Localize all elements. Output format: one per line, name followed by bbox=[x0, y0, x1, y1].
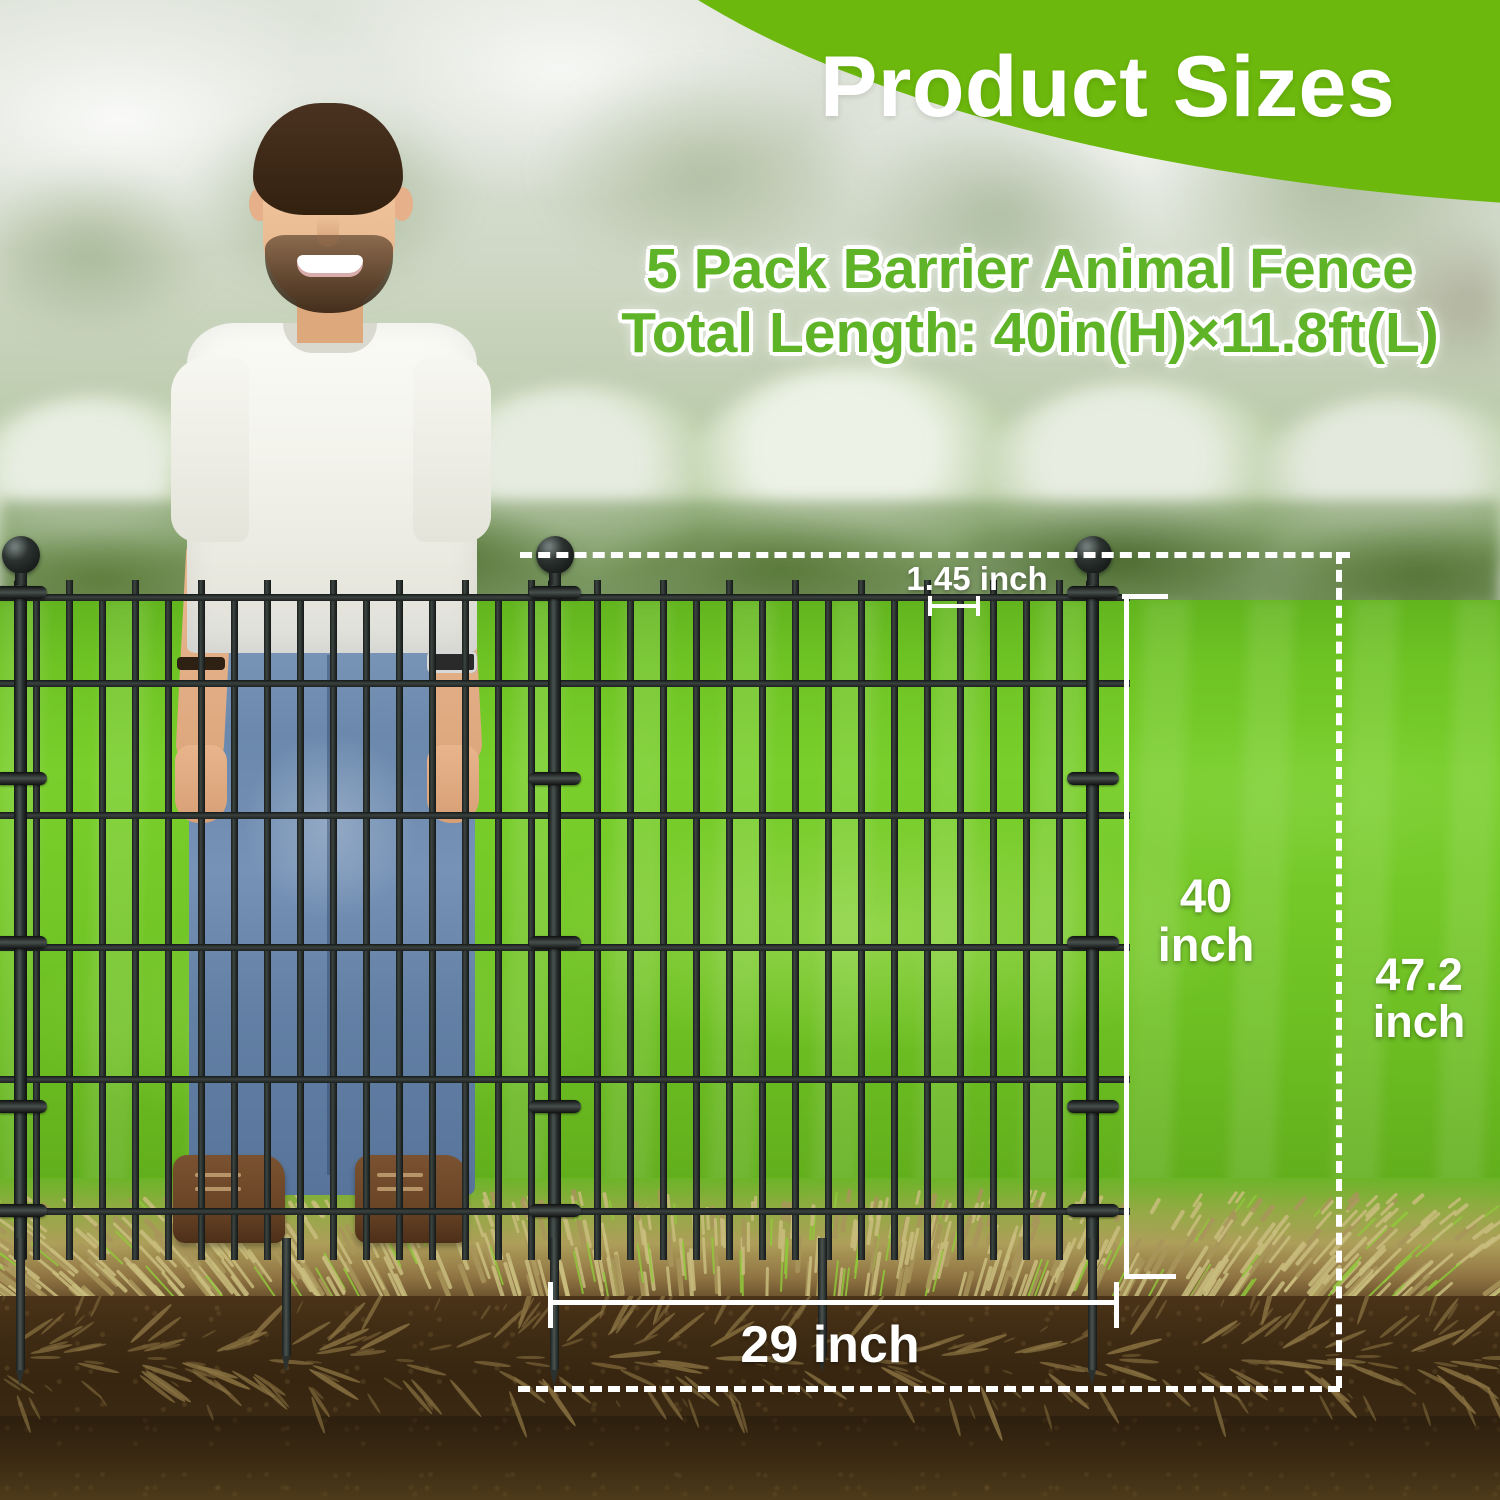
sleeve-right bbox=[413, 357, 491, 542]
height472-line bbox=[1336, 552, 1342, 1388]
fence-vertical-bar bbox=[957, 594, 964, 1260]
soil-deep-shadow bbox=[0, 1416, 1500, 1500]
subtitle-line-2: Total Length: 40in(H)×11.8ft(L) bbox=[560, 302, 1500, 366]
fence-connector-clip bbox=[0, 772, 47, 785]
height40-line bbox=[1124, 594, 1129, 1278]
fence-connector-clip bbox=[0, 936, 47, 949]
fence-vertical-bar bbox=[99, 594, 106, 1260]
fence-post bbox=[1086, 580, 1099, 1260]
fence-vertical-bar bbox=[693, 594, 700, 1260]
fence-connector-clip bbox=[529, 772, 581, 785]
fence-ground-stake bbox=[16, 1238, 25, 1370]
fence-vertical-bar bbox=[165, 594, 172, 1260]
fence-vertical-bar bbox=[363, 594, 370, 1260]
height40-value: 40 bbox=[1136, 872, 1276, 921]
width29-line bbox=[548, 1300, 1118, 1305]
fence-connector-clip bbox=[0, 586, 47, 599]
grass-blade bbox=[1411, 1193, 1424, 1205]
fence-horizontal-rail bbox=[0, 812, 1130, 819]
grass-blade bbox=[1484, 1205, 1500, 1218]
height40-unit: inch bbox=[1136, 921, 1276, 970]
fence-vertical-bar bbox=[495, 594, 502, 1260]
fence-horizontal-rail bbox=[0, 680, 1130, 687]
fence-connector-clip bbox=[529, 586, 581, 599]
fence-horizontal-rail bbox=[0, 1076, 1130, 1083]
spacing-arrow-cap-right bbox=[976, 596, 980, 616]
fence-connector-clip bbox=[1067, 772, 1119, 785]
width29-cap-left bbox=[548, 1282, 553, 1328]
spacing-label: 1.45 inch bbox=[862, 562, 1092, 596]
fence-ball-finial bbox=[2, 536, 40, 574]
dimension-line-top-dashed bbox=[520, 552, 1350, 558]
fence-connector-clip bbox=[529, 1100, 581, 1113]
height472-unit: inch bbox=[1344, 999, 1494, 1046]
width29-label: 29 inch bbox=[620, 1318, 1040, 1372]
grass-blade bbox=[1293, 1196, 1307, 1211]
fence-connector-clip bbox=[0, 1100, 47, 1113]
height40-label: 40 inch bbox=[1136, 872, 1276, 970]
fence-vertical-bar bbox=[759, 594, 766, 1260]
spacing-arrow-cap-left bbox=[928, 596, 932, 616]
product-subtitle: 5 Pack Barrier Animal Fence Total Length… bbox=[560, 238, 1500, 366]
nose bbox=[317, 217, 339, 247]
grass-blade bbox=[1260, 1204, 1276, 1223]
fence-vertical-bar bbox=[825, 594, 832, 1260]
fence-vertical-bar bbox=[297, 594, 304, 1260]
fence-post bbox=[14, 580, 27, 1260]
fence-connector-clip bbox=[1067, 936, 1119, 949]
fence-vertical-bar bbox=[33, 594, 40, 1260]
fence-connector-clip bbox=[529, 936, 581, 949]
fence-connector-clip bbox=[1067, 1100, 1119, 1113]
subtitle-line-1: 5 Pack Barrier Animal Fence bbox=[560, 238, 1500, 302]
fence-connector-clip bbox=[0, 1204, 47, 1217]
fence-post bbox=[548, 580, 561, 1260]
fence-vertical-bar bbox=[1023, 594, 1030, 1260]
root-strand bbox=[147, 1356, 167, 1359]
fence-ground-stake bbox=[282, 1238, 291, 1356]
fence-connector-clip bbox=[1067, 1204, 1119, 1217]
dimension-line-bottom-dashed bbox=[518, 1386, 1340, 1392]
height40-cap-bottom bbox=[1124, 1274, 1176, 1279]
product-infographic: Product Sizes 5 Pack Barrier Animal Fenc… bbox=[0, 0, 1500, 1500]
height472-label: 47.2 inch bbox=[1344, 952, 1494, 1046]
smile bbox=[297, 255, 363, 277]
fence-vertical-bar bbox=[231, 594, 238, 1260]
grass-blade bbox=[1170, 1209, 1185, 1231]
grass-blade bbox=[1431, 1222, 1453, 1242]
sleeve-left bbox=[171, 357, 249, 542]
root-strand bbox=[1482, 1356, 1500, 1360]
grass-blade bbox=[1149, 1197, 1161, 1214]
page-title: Product Sizes bbox=[820, 38, 1500, 137]
width29-cap-right bbox=[1114, 1282, 1119, 1328]
fence-vertical-bar bbox=[627, 594, 634, 1260]
fence-connector-clip bbox=[529, 1204, 581, 1217]
fence-vertical-bar bbox=[429, 594, 436, 1260]
height472-value: 47.2 bbox=[1344, 952, 1494, 999]
hair bbox=[253, 103, 403, 215]
fence-vertical-bar bbox=[891, 594, 898, 1260]
animal-fence-panels bbox=[0, 560, 1140, 1300]
spacing-arrow-line bbox=[928, 604, 980, 608]
